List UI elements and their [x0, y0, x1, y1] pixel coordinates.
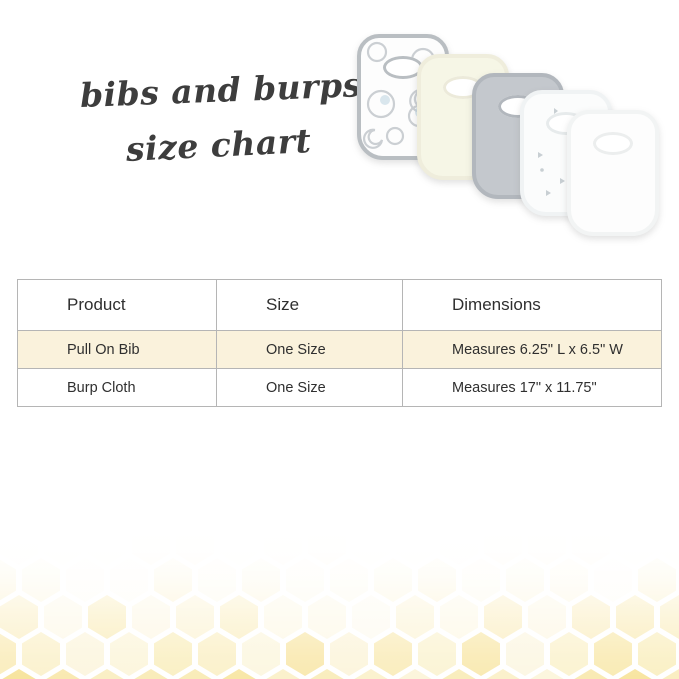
- hexagon-cell: [594, 632, 632, 676]
- hexagon-cell: [572, 595, 610, 639]
- bib-neck-opening: [593, 132, 633, 155]
- hexagon-cell: [330, 558, 368, 602]
- cell-dimensions: Measures 6.25" L x 6.5" W: [403, 331, 662, 369]
- hexagon-cell: [198, 558, 236, 602]
- cell-product: Burp Cloth: [18, 369, 217, 407]
- hexagon-cell: [22, 632, 60, 676]
- hexagon-cell: [0, 529, 38, 565]
- bibs-product-photo: [345, 28, 627, 208]
- column-header-dimensions: Dimensions: [403, 280, 662, 331]
- hexagon-cell: [506, 632, 544, 676]
- hexagon-cell: [154, 558, 192, 602]
- title-line-2: size chart: [125, 121, 312, 169]
- hexagon-cell: [286, 558, 324, 602]
- hexagon-cell: [572, 529, 610, 565]
- hexagon-cell: [616, 529, 654, 565]
- hexagon-cell: [550, 632, 588, 676]
- hexagon-cell: [66, 632, 104, 676]
- hexagon-cell: [462, 558, 500, 602]
- hexagon-cell: [638, 558, 676, 602]
- hexagon-cell: [528, 595, 566, 639]
- hexagon-cell: [330, 632, 368, 676]
- hexagon-cell: [440, 529, 478, 565]
- hexagon-cell: [374, 558, 412, 602]
- hexagon-cell: [154, 632, 192, 676]
- hexagon-cell: [528, 529, 566, 565]
- title-line-1: bibs and burps: [79, 65, 362, 115]
- hexagon-cell: [110, 558, 148, 602]
- hexagon-cell: [286, 632, 324, 676]
- hexagon-cell: [550, 558, 588, 602]
- hexagon-cell: [396, 529, 434, 565]
- table-row: Burp Cloth One Size Measures 17" x 11.75…: [18, 369, 662, 407]
- hexagon-cell: [220, 529, 258, 565]
- hexagon-cell: [440, 595, 478, 639]
- hexagon-cell: [308, 529, 346, 565]
- column-header-product: Product: [18, 280, 217, 331]
- hexagon-cell: [44, 529, 82, 565]
- hexagon-cell: [660, 529, 679, 565]
- hexagon-cell: [396, 595, 434, 639]
- cell-dimensions: Measures 17" x 11.75": [403, 369, 662, 407]
- hexagon-cell: [638, 632, 676, 676]
- cell-size: One Size: [217, 369, 403, 407]
- hexagon-cell: [176, 529, 214, 565]
- column-header-size: Size: [217, 280, 403, 331]
- hexagon-cell: [242, 632, 280, 676]
- plain-white-bib-image: [567, 110, 659, 236]
- hexagon-cell: [110, 632, 148, 676]
- hexagon-cell: [352, 529, 390, 565]
- hexagon-cell: [132, 529, 170, 565]
- hexagon-cell: [198, 632, 236, 676]
- hexagon-cell: [660, 595, 679, 639]
- hexagon-cell: [220, 595, 258, 639]
- hexagon-cell: [308, 595, 346, 639]
- hexagon-cell: [0, 632, 16, 676]
- hexagon-cell: [242, 558, 280, 602]
- hexagon-cell: [484, 595, 522, 639]
- hexagon-cell: [0, 595, 38, 639]
- hexagon-cell: [132, 595, 170, 639]
- page-title: bibs and burps size chart: [58, 58, 358, 188]
- cell-product: Pull On Bib: [18, 331, 217, 369]
- hexagon-cell: [88, 595, 126, 639]
- hexagon-cell: [594, 558, 632, 602]
- hexagon-cell: [506, 558, 544, 602]
- hexagon-cell: [484, 529, 522, 565]
- cell-size: One Size: [217, 331, 403, 369]
- hexagon-cell: [264, 529, 302, 565]
- honeycomb-footer-pattern: [0, 529, 679, 679]
- size-chart-table: Product Size Dimensions Pull On Bib One …: [17, 279, 662, 407]
- hexagon-cell: [264, 595, 302, 639]
- hexagon-cell: [462, 632, 500, 676]
- hexagon-cell: [66, 558, 104, 602]
- hexagon-cell: [0, 558, 16, 602]
- hexagon-cell: [374, 632, 412, 676]
- table-header-row: Product Size Dimensions: [18, 280, 662, 331]
- hexagon-cell: [616, 595, 654, 639]
- table-row: Pull On Bib One Size Measures 6.25" L x …: [18, 331, 662, 369]
- hexagon-cell: [22, 558, 60, 602]
- hexagon-cell: [44, 595, 82, 639]
- hexagon-cell: [88, 529, 126, 565]
- hexagon-cell: [352, 595, 390, 639]
- hexagon-cell: [176, 595, 214, 639]
- hexagon-cell: [418, 632, 456, 676]
- honeycomb-svg: [0, 529, 679, 679]
- hexagon-cell: [418, 558, 456, 602]
